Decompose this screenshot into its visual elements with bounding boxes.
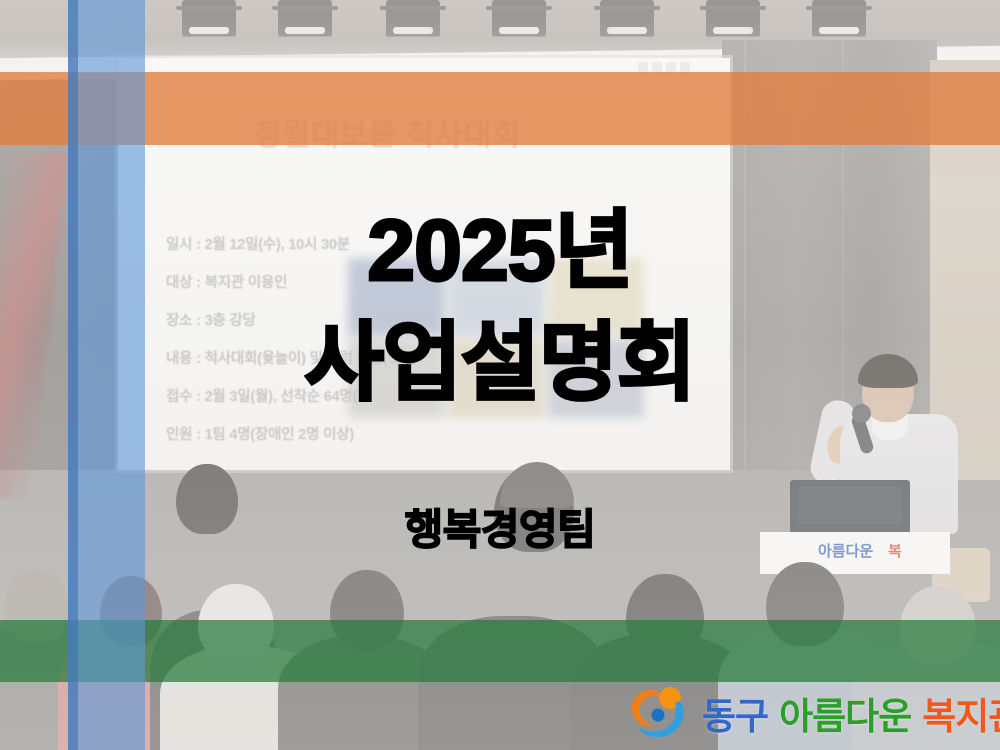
ceiling-light-icon [278, 0, 332, 36]
logo-swirl-icon [628, 685, 690, 741]
ceiling-light-icon [812, 0, 866, 36]
orange-accent-band [0, 72, 1000, 145]
organization-logo: 동구 아름다운 복지관 [628, 682, 1000, 744]
logo-word-donggu: 동구 [702, 686, 768, 740]
logo-word-bokjigwan: 복지관 [922, 686, 1000, 740]
ceiling-light-icon [492, 0, 546, 36]
ceiling-light-icon [182, 0, 236, 36]
ceiling-light-icon [706, 0, 760, 36]
page-title: 2025년 사업설명회 [0, 196, 1000, 420]
logo-wordmark: 동구 아름다운 복지관 [702, 686, 1000, 740]
poster-canvas: 정월대보름 척사대회 일시 : 2월 12일(수), 10시 30분 대상 : … [0, 0, 1000, 750]
green-accent-band [0, 620, 1000, 682]
page-subtitle: 행복경영팀 [0, 496, 1000, 557]
logo-word-areumdaun: 아름다운 [779, 686, 911, 740]
ceiling-light-icon [386, 0, 440, 36]
slide-line: 인원 : 1팀 4명(장애인 2명 이상) [166, 423, 417, 444]
ceiling-light-icon [600, 0, 654, 36]
